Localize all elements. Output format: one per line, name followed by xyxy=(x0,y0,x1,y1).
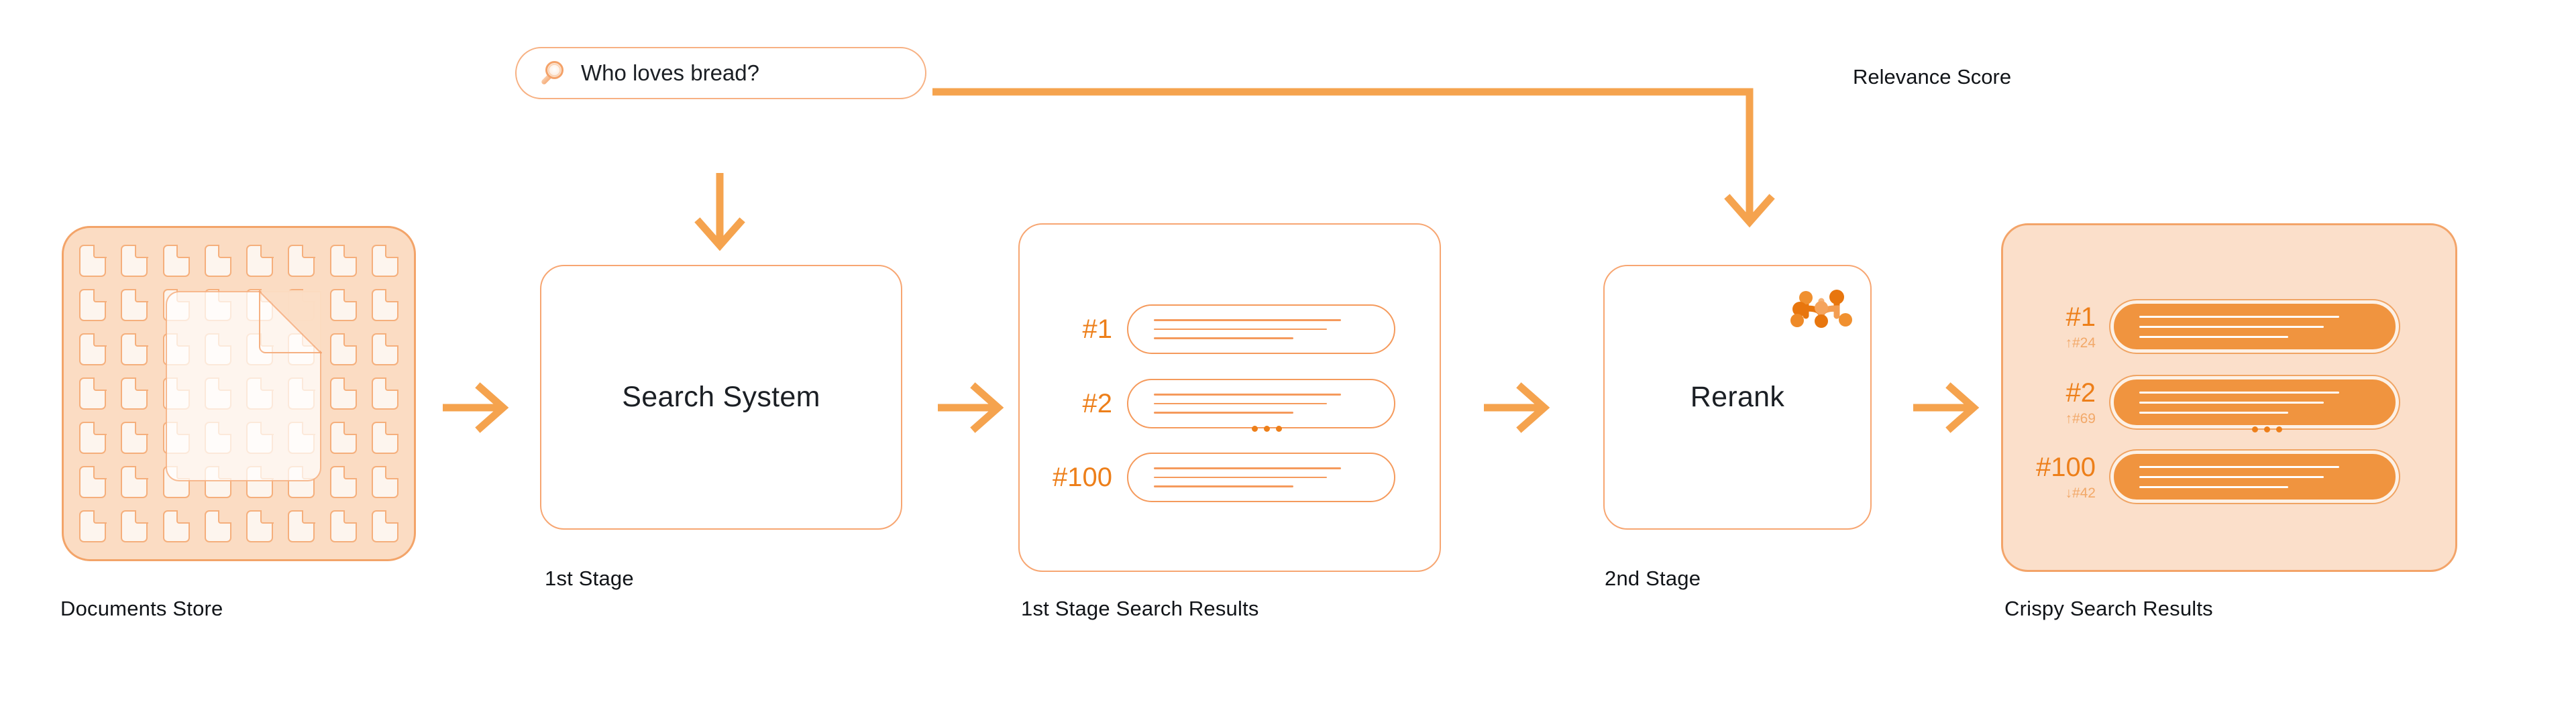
crispy-ellipsis xyxy=(2252,426,2282,432)
text-line xyxy=(1154,477,1327,478)
document-icon xyxy=(330,245,357,277)
document-icon xyxy=(372,510,398,542)
document-icon xyxy=(372,245,398,277)
document-icon xyxy=(246,510,273,542)
crispy-result-row-100[interactable]: #100 ↓#42 xyxy=(2003,451,2455,503)
dot-icon xyxy=(1264,426,1270,432)
dot-icon xyxy=(2252,426,2258,432)
document-icon xyxy=(330,377,357,410)
result-pill[interactable] xyxy=(1127,379,1395,428)
rank-delta-label: ↑#24 xyxy=(2003,336,2096,350)
rank-label: #2 xyxy=(1020,390,1112,417)
document-icon xyxy=(121,377,148,410)
rank-label: #100 xyxy=(2003,454,2096,481)
neural-network-icon xyxy=(1790,288,1853,329)
document-icon xyxy=(330,333,357,365)
result-pill[interactable] xyxy=(2110,376,2399,428)
document-icon xyxy=(163,245,190,277)
document-icon xyxy=(330,466,357,498)
crispy-result-row-2[interactable]: #2 ↑#69 xyxy=(2003,376,2455,428)
text-line xyxy=(2139,466,2339,468)
document-icon xyxy=(372,377,398,410)
search-system-label: Search System xyxy=(622,381,820,414)
document-icon xyxy=(121,422,148,454)
stage1-ellipsis xyxy=(1252,426,1282,432)
document-icon xyxy=(79,510,106,542)
rerank-box[interactable]: Rerank xyxy=(1603,265,1872,530)
text-line xyxy=(2139,412,2288,414)
document-icon xyxy=(79,333,106,365)
dot-icon xyxy=(2264,426,2270,432)
rank-label: #100 xyxy=(1020,464,1112,491)
document-icon xyxy=(330,510,357,542)
magnifier-icon xyxy=(537,58,568,89)
rank-column: #100 ↓#42 xyxy=(2003,454,2110,500)
document-icon xyxy=(79,245,106,277)
stage1-result-row-2[interactable]: #2 xyxy=(1020,379,1440,428)
document-icon xyxy=(288,245,315,277)
document-icon xyxy=(205,510,231,542)
text-line xyxy=(2139,476,2324,478)
diagram-canvas: Documents Store xyxy=(0,0,2576,704)
rank-label: #1 xyxy=(2003,304,2096,331)
document-icon xyxy=(372,466,398,498)
documents-store-panel xyxy=(62,226,416,561)
relevance-score-label: Relevance Score xyxy=(1853,65,2011,89)
rank-label: #2 xyxy=(2003,379,2096,406)
text-line xyxy=(2139,392,2339,394)
document-icon xyxy=(330,422,357,454)
rank-delta-label: ↑#69 xyxy=(2003,412,2096,426)
stage1-result-row-1[interactable]: #1 xyxy=(1020,304,1440,354)
stage1-results-panel: #1 #2 #100 xyxy=(1018,223,1441,572)
document-icon xyxy=(121,510,148,542)
arrow-right-icon xyxy=(443,388,503,428)
text-line xyxy=(1154,337,1293,339)
result-pill[interactable] xyxy=(2110,451,2399,503)
document-icon xyxy=(372,289,398,321)
text-line xyxy=(1154,412,1293,413)
elbow-arrow-down-icon xyxy=(932,92,1770,222)
document-icon xyxy=(79,422,106,454)
document-icon xyxy=(121,466,148,498)
stage1-results-caption: 1st Stage Search Results xyxy=(1021,597,1259,621)
dot-icon xyxy=(2276,426,2282,432)
text-line xyxy=(1154,485,1293,487)
document-icon xyxy=(163,510,190,542)
crispy-results-panel: #1 ↑#24 #2 ↑#69 xyxy=(2001,223,2457,572)
document-icon xyxy=(372,422,398,454)
text-line xyxy=(2139,336,2288,338)
documents-store-caption: Documents Store xyxy=(60,597,223,621)
document-icon xyxy=(121,333,148,365)
search-system-box[interactable]: Search System xyxy=(540,265,902,530)
document-icon xyxy=(246,245,273,277)
document-icon xyxy=(330,289,357,321)
rank-column: #1 ↑#24 xyxy=(2003,304,2110,350)
arrow-down-icon xyxy=(700,173,740,245)
arrow-right-icon xyxy=(938,388,998,428)
document-icon xyxy=(121,289,148,321)
dot-icon xyxy=(1276,426,1282,432)
document-icon xyxy=(288,510,315,542)
rerank-caption: 2nd Stage xyxy=(1605,567,1701,591)
text-line xyxy=(1154,319,1341,320)
crispy-results-caption: Crispy Search Results xyxy=(2004,597,2213,621)
large-document-icon xyxy=(166,291,321,481)
rerank-label: Rerank xyxy=(1690,381,1784,414)
rank-column: #1 xyxy=(1020,316,1127,343)
arrow-right-icon xyxy=(1913,388,1974,428)
rank-column: #2 xyxy=(1020,390,1127,417)
document-icon xyxy=(121,245,148,277)
text-line xyxy=(2139,316,2339,318)
document-icon xyxy=(205,245,231,277)
text-line xyxy=(2139,486,2288,488)
text-line xyxy=(1154,403,1327,404)
search-system-caption: 1st Stage xyxy=(545,567,634,591)
text-line xyxy=(2139,402,2324,404)
text-line xyxy=(1154,467,1341,469)
rank-delta-label: ↓#42 xyxy=(2003,486,2096,500)
document-icon xyxy=(79,466,106,498)
result-pill[interactable] xyxy=(1127,304,1395,354)
rank-label: #1 xyxy=(1020,316,1112,343)
document-icon xyxy=(79,377,106,410)
search-query-text: Who loves bread? xyxy=(581,60,759,86)
text-line xyxy=(1154,394,1341,395)
text-line xyxy=(1154,329,1327,330)
document-icon xyxy=(79,289,106,321)
rank-column: #100 xyxy=(1020,464,1127,491)
rank-column: #2 ↑#69 xyxy=(2003,379,2110,426)
arrow-right-icon xyxy=(1484,388,1544,428)
text-line xyxy=(2139,326,2324,328)
dot-icon xyxy=(1252,426,1258,432)
stage1-result-row-100[interactable]: #100 xyxy=(1020,453,1440,502)
crispy-result-row-1[interactable]: #1 ↑#24 xyxy=(2003,300,2455,353)
document-icon xyxy=(372,333,398,365)
result-pill[interactable] xyxy=(1127,453,1395,502)
result-pill[interactable] xyxy=(2110,300,2399,353)
search-query-box[interactable]: Who loves bread? xyxy=(515,47,926,99)
